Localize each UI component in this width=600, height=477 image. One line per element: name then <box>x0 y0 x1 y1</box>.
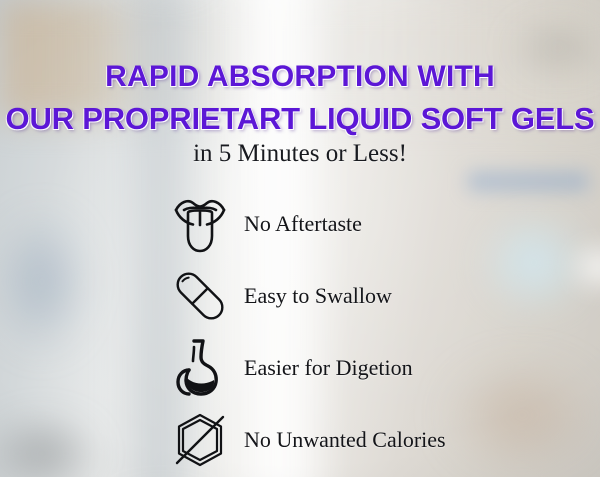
headline-line-1: RAPID ABSORPTION WITH <box>0 56 600 98</box>
subheadline: in 5 Minutes or Less! <box>0 140 600 168</box>
feature-row: Easy to Swallow <box>168 260 588 332</box>
feature-label: Easy to Swallow <box>244 283 392 309</box>
promo-poster: RAPID ABSORPTION WITH OUR PROPRIETART LI… <box>0 0 600 477</box>
no-calories-hexagon-icon <box>168 408 232 472</box>
feature-label: No Unwanted Calories <box>244 427 446 453</box>
headline: RAPID ABSORPTION WITH OUR PROPRIETART LI… <box>0 56 600 140</box>
feature-row: No Unwanted Calories <box>168 404 588 476</box>
poster-content: RAPID ABSORPTION WITH OUR PROPRIETART LI… <box>0 0 600 477</box>
feature-list: No Aftertaste Easy to Swallow <box>168 188 588 476</box>
feature-label: No Aftertaste <box>244 211 362 237</box>
feature-row: Easier for Digetion <box>168 332 588 404</box>
stomach-icon <box>168 336 232 400</box>
headline-line-2: OUR PROPRIETART LIQUID SOFT GELS <box>0 98 600 140</box>
feature-row: No Aftertaste <box>168 188 588 260</box>
capsule-icon <box>168 264 232 328</box>
tongue-icon <box>168 192 232 256</box>
feature-label: Easier for Digetion <box>244 355 413 381</box>
